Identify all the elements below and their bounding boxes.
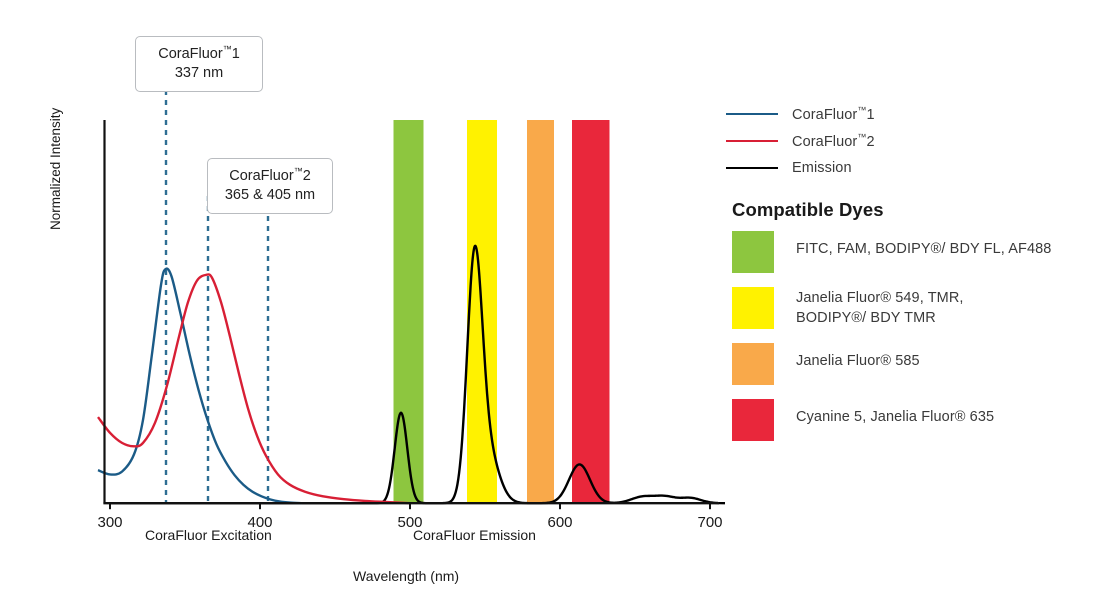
- callout1-title: CoraFluor: [158, 46, 222, 62]
- color-swatch-orange: [732, 343, 774, 385]
- dye-label-orange: Janelia Fluor® 585: [796, 343, 920, 372]
- dye-band: [572, 120, 610, 503]
- emission-region-label: CoraFluor Emission: [413, 527, 536, 543]
- line-swatch-icon: [726, 167, 778, 169]
- callout1-suffix: 1: [232, 46, 240, 62]
- corafluor1-callout: CoraFluor™1 337 nm: [135, 36, 263, 92]
- marker-lines-group: [166, 90, 268, 503]
- color-swatch-green: [732, 231, 774, 273]
- dye-item-red: Cyanine 5, Janelia Fluor® 635: [726, 399, 1110, 441]
- x-tick-label: 600: [547, 514, 572, 531]
- band-group: [394, 120, 610, 503]
- callout2-title: CoraFluor: [229, 168, 293, 184]
- legend-label-corafluor1: CoraFluor™1: [792, 105, 875, 123]
- color-swatch-yellow: [732, 287, 774, 329]
- legend-item-corafluor1: CoraFluor™1: [726, 100, 1110, 127]
- callout2-value: 365 & 405 nm: [225, 187, 315, 203]
- callout1-value: 337 nm: [175, 65, 223, 81]
- spectra-plot: 300400500600700: [0, 0, 730, 612]
- y-axis-label: Normalized Intensity: [48, 50, 63, 230]
- x-tick-label: 700: [697, 514, 722, 531]
- legend-item-emission: Emission: [726, 154, 1110, 181]
- corafluor2-callout: CoraFluor™2 365 & 405 nm: [207, 158, 333, 214]
- dye-label-red: Cyanine 5, Janelia Fluor® 635: [796, 399, 994, 428]
- dye-label-yellow: Janelia Fluor® 549, TMR,BODIPY®/ BDY TMR: [796, 287, 964, 328]
- dye-item-yellow: Janelia Fluor® 549, TMR,BODIPY®/ BDY TMR: [726, 287, 1110, 329]
- dye-item-orange: Janelia Fluor® 585: [726, 343, 1110, 385]
- compatible-dyes-title: Compatible Dyes: [732, 199, 1110, 221]
- dye-item-green: FITC, FAM, BODIPY®/ BDY FL, AF488: [726, 231, 1110, 273]
- color-swatch-red: [732, 399, 774, 441]
- x-tick-label: 300: [97, 514, 122, 531]
- legend-item-corafluor2: CoraFluor™2: [726, 127, 1110, 154]
- figure-root: 300400500600700 Normalized Intensity Cor…: [0, 0, 1110, 612]
- callout2-suffix: 2: [303, 168, 311, 184]
- x-axis-label: Wavelength (nm): [353, 568, 459, 584]
- spectra-svg: 300400500600700: [0, 0, 730, 612]
- dye-band: [394, 120, 424, 503]
- callout1-sup: ™: [223, 44, 232, 54]
- legend-label-emission: Emission: [792, 160, 852, 176]
- callout2-sup: ™: [294, 166, 303, 176]
- dye-band: [527, 120, 554, 503]
- legend-panel: CoraFluor™1 CoraFluor™2 Emission Compati…: [726, 100, 1110, 455]
- corafluor1-excitation-curve: [98, 269, 302, 504]
- excitation-region-label: CoraFluor Excitation: [145, 527, 272, 543]
- dye-label-green: FITC, FAM, BODIPY®/ BDY FL, AF488: [796, 231, 1051, 260]
- line-swatch-icon: [726, 140, 778, 142]
- corafluor2-excitation-curve: [98, 274, 410, 503]
- line-swatch-icon: [726, 113, 778, 115]
- legend-label-corafluor2: CoraFluor™2: [792, 132, 875, 150]
